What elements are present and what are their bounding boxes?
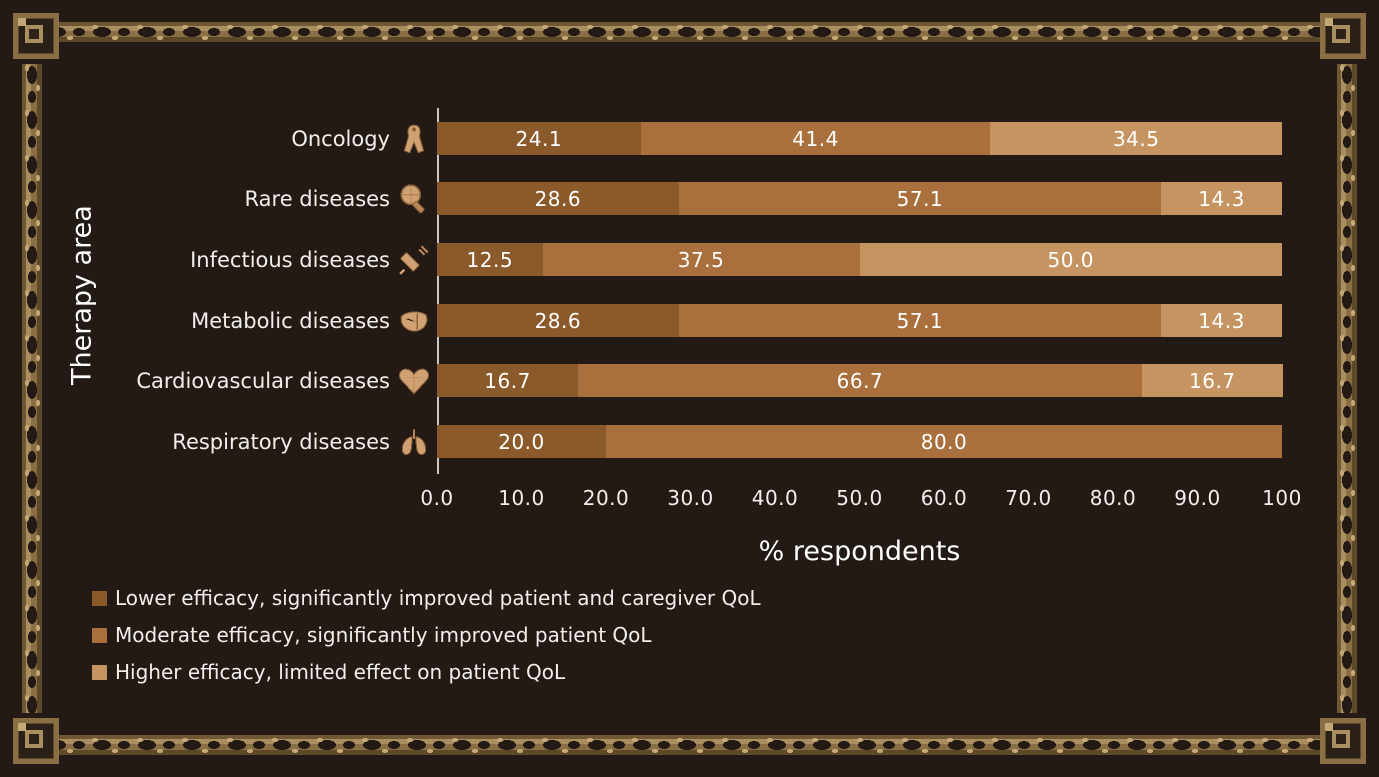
bar-segment-value: 20.0 xyxy=(498,430,545,454)
category-label-metabolic-diseases: Metabolic diseases xyxy=(0,304,431,337)
x-axis-tick: 0.0 xyxy=(420,486,453,510)
bar-segment-value: 14.3 xyxy=(1198,187,1245,211)
bar-segment-value: 57.1 xyxy=(897,309,944,333)
bar-segment-value: 37.5 xyxy=(678,248,725,272)
bar-segment: 14.3 xyxy=(1161,304,1282,337)
category-label-text: Rare diseases xyxy=(245,187,390,211)
chart-canvas: Therapy area Oncology Rare diseases Infe… xyxy=(0,0,1379,777)
bar-segment-value: 24.1 xyxy=(516,127,563,151)
bar-segment-value: 16.7 xyxy=(1189,369,1236,393)
bar-segment-value: 34.5 xyxy=(1113,127,1160,151)
category-label-text: Cardiovascular diseases xyxy=(136,369,390,393)
ribbon-icon xyxy=(397,122,431,156)
category-label-oncology: Oncology xyxy=(0,122,431,155)
chain-border-top xyxy=(46,18,1333,46)
x-axis-tick: 90.0 xyxy=(1174,486,1221,510)
bar-segment-value: 16.7 xyxy=(484,369,531,393)
bar-segment: 14.3 xyxy=(1161,182,1282,215)
category-label-text: Metabolic diseases xyxy=(191,309,390,333)
heart-icon xyxy=(397,364,431,398)
category-label-text: Infectious diseases xyxy=(190,248,390,272)
bar-segment: 28.6 xyxy=(437,182,679,215)
legend-item[interactable]: Moderate efficacy, significantly improve… xyxy=(92,623,761,647)
bar-segment-value: 28.6 xyxy=(535,187,582,211)
bar-segment-value: 41.4 xyxy=(792,127,839,151)
legend-label: Higher efficacy, limited effect on patie… xyxy=(115,660,565,684)
bar-row: 28.657.114.3 xyxy=(437,304,1282,337)
category-label-cardiovascular-diseases: Cardiovascular diseases xyxy=(0,364,431,397)
syringe-icon xyxy=(397,243,431,277)
bar-segment: 20.0 xyxy=(437,425,606,458)
x-axis-tick: 20.0 xyxy=(583,486,630,510)
plot-area: 24.141.434.528.657.114.312.537.550.028.6… xyxy=(437,110,1282,472)
corner-ornament-top-right xyxy=(1320,13,1366,59)
bar-segment: 57.1 xyxy=(679,304,1161,337)
category-label-text: Oncology xyxy=(291,127,390,151)
bar-segment: 24.1 xyxy=(437,122,641,155)
x-axis-tick: 50.0 xyxy=(836,486,883,510)
category-label-infectious-diseases: Infectious diseases xyxy=(0,243,431,276)
bar-segment: 80.0 xyxy=(606,425,1282,458)
bar-row: 12.537.550.0 xyxy=(437,243,1282,276)
bar-segment: 57.1 xyxy=(679,182,1161,215)
x-axis-tick: 80.0 xyxy=(1090,486,1137,510)
category-label-respiratory-diseases: Respiratory diseases xyxy=(0,425,431,458)
bar-segment-value: 14.3 xyxy=(1198,309,1245,333)
bar-segment: 41.4 xyxy=(641,122,991,155)
bar-row: 16.766.716.7 xyxy=(437,364,1282,397)
bar-row: 28.657.114.3 xyxy=(437,182,1282,215)
corner-ornament-top-left xyxy=(13,13,59,59)
legend-item[interactable]: Higher efficacy, limited effect on patie… xyxy=(92,660,761,684)
bar-segment: 34.5 xyxy=(990,122,1282,155)
category-label-rare-diseases: Rare diseases xyxy=(0,182,431,215)
x-axis-tick: 60.0 xyxy=(921,486,968,510)
x-axis-tick: 10.0 xyxy=(498,486,545,510)
bar-row: 24.141.434.5 xyxy=(437,122,1282,155)
legend-label: Lower efficacy, significantly improved p… xyxy=(115,586,761,610)
corner-ornament-bottom-right xyxy=(1320,718,1366,764)
chain-border-bottom xyxy=(46,731,1333,759)
x-axis-label: % respondents xyxy=(437,536,1282,567)
chain-border-right xyxy=(1333,64,1361,713)
x-axis-tick: 30.0 xyxy=(667,486,714,510)
bar-segment: 37.5 xyxy=(543,243,860,276)
corner-ornament-bottom-left xyxy=(13,718,59,764)
bar-row: 20.080.0 xyxy=(437,425,1282,458)
category-label-text: Respiratory diseases xyxy=(172,430,390,454)
x-axis-tick: 40.0 xyxy=(752,486,799,510)
legend: Lower efficacy, significantly improved p… xyxy=(92,586,761,684)
lungs-icon xyxy=(397,425,431,459)
bar-segment: 50.0 xyxy=(860,243,1283,276)
bar-segment-value: 12.5 xyxy=(467,248,514,272)
legend-label: Moderate efficacy, significantly improve… xyxy=(115,623,652,647)
legend-swatch xyxy=(92,665,107,680)
bar-segment-value: 50.0 xyxy=(1047,248,1094,272)
bar-segment: 16.7 xyxy=(1142,364,1283,397)
bar-segment: 16.7 xyxy=(437,364,578,397)
legend-swatch xyxy=(92,628,107,643)
legend-item[interactable]: Lower efficacy, significantly improved p… xyxy=(92,586,761,610)
x-axis-tick: 100 xyxy=(1262,486,1302,510)
magnifier-icon xyxy=(397,182,431,216)
bar-segment-value: 80.0 xyxy=(921,430,968,454)
liver-icon xyxy=(397,304,431,338)
bar-segment-value: 66.7 xyxy=(837,369,884,393)
bar-segment: 28.6 xyxy=(437,304,679,337)
bar-segment-value: 28.6 xyxy=(535,309,582,333)
bar-segment: 12.5 xyxy=(437,243,543,276)
bar-segment-value: 57.1 xyxy=(897,187,944,211)
bar-segment: 66.7 xyxy=(578,364,1142,397)
x-axis-tick: 70.0 xyxy=(1005,486,1052,510)
legend-swatch xyxy=(92,591,107,606)
